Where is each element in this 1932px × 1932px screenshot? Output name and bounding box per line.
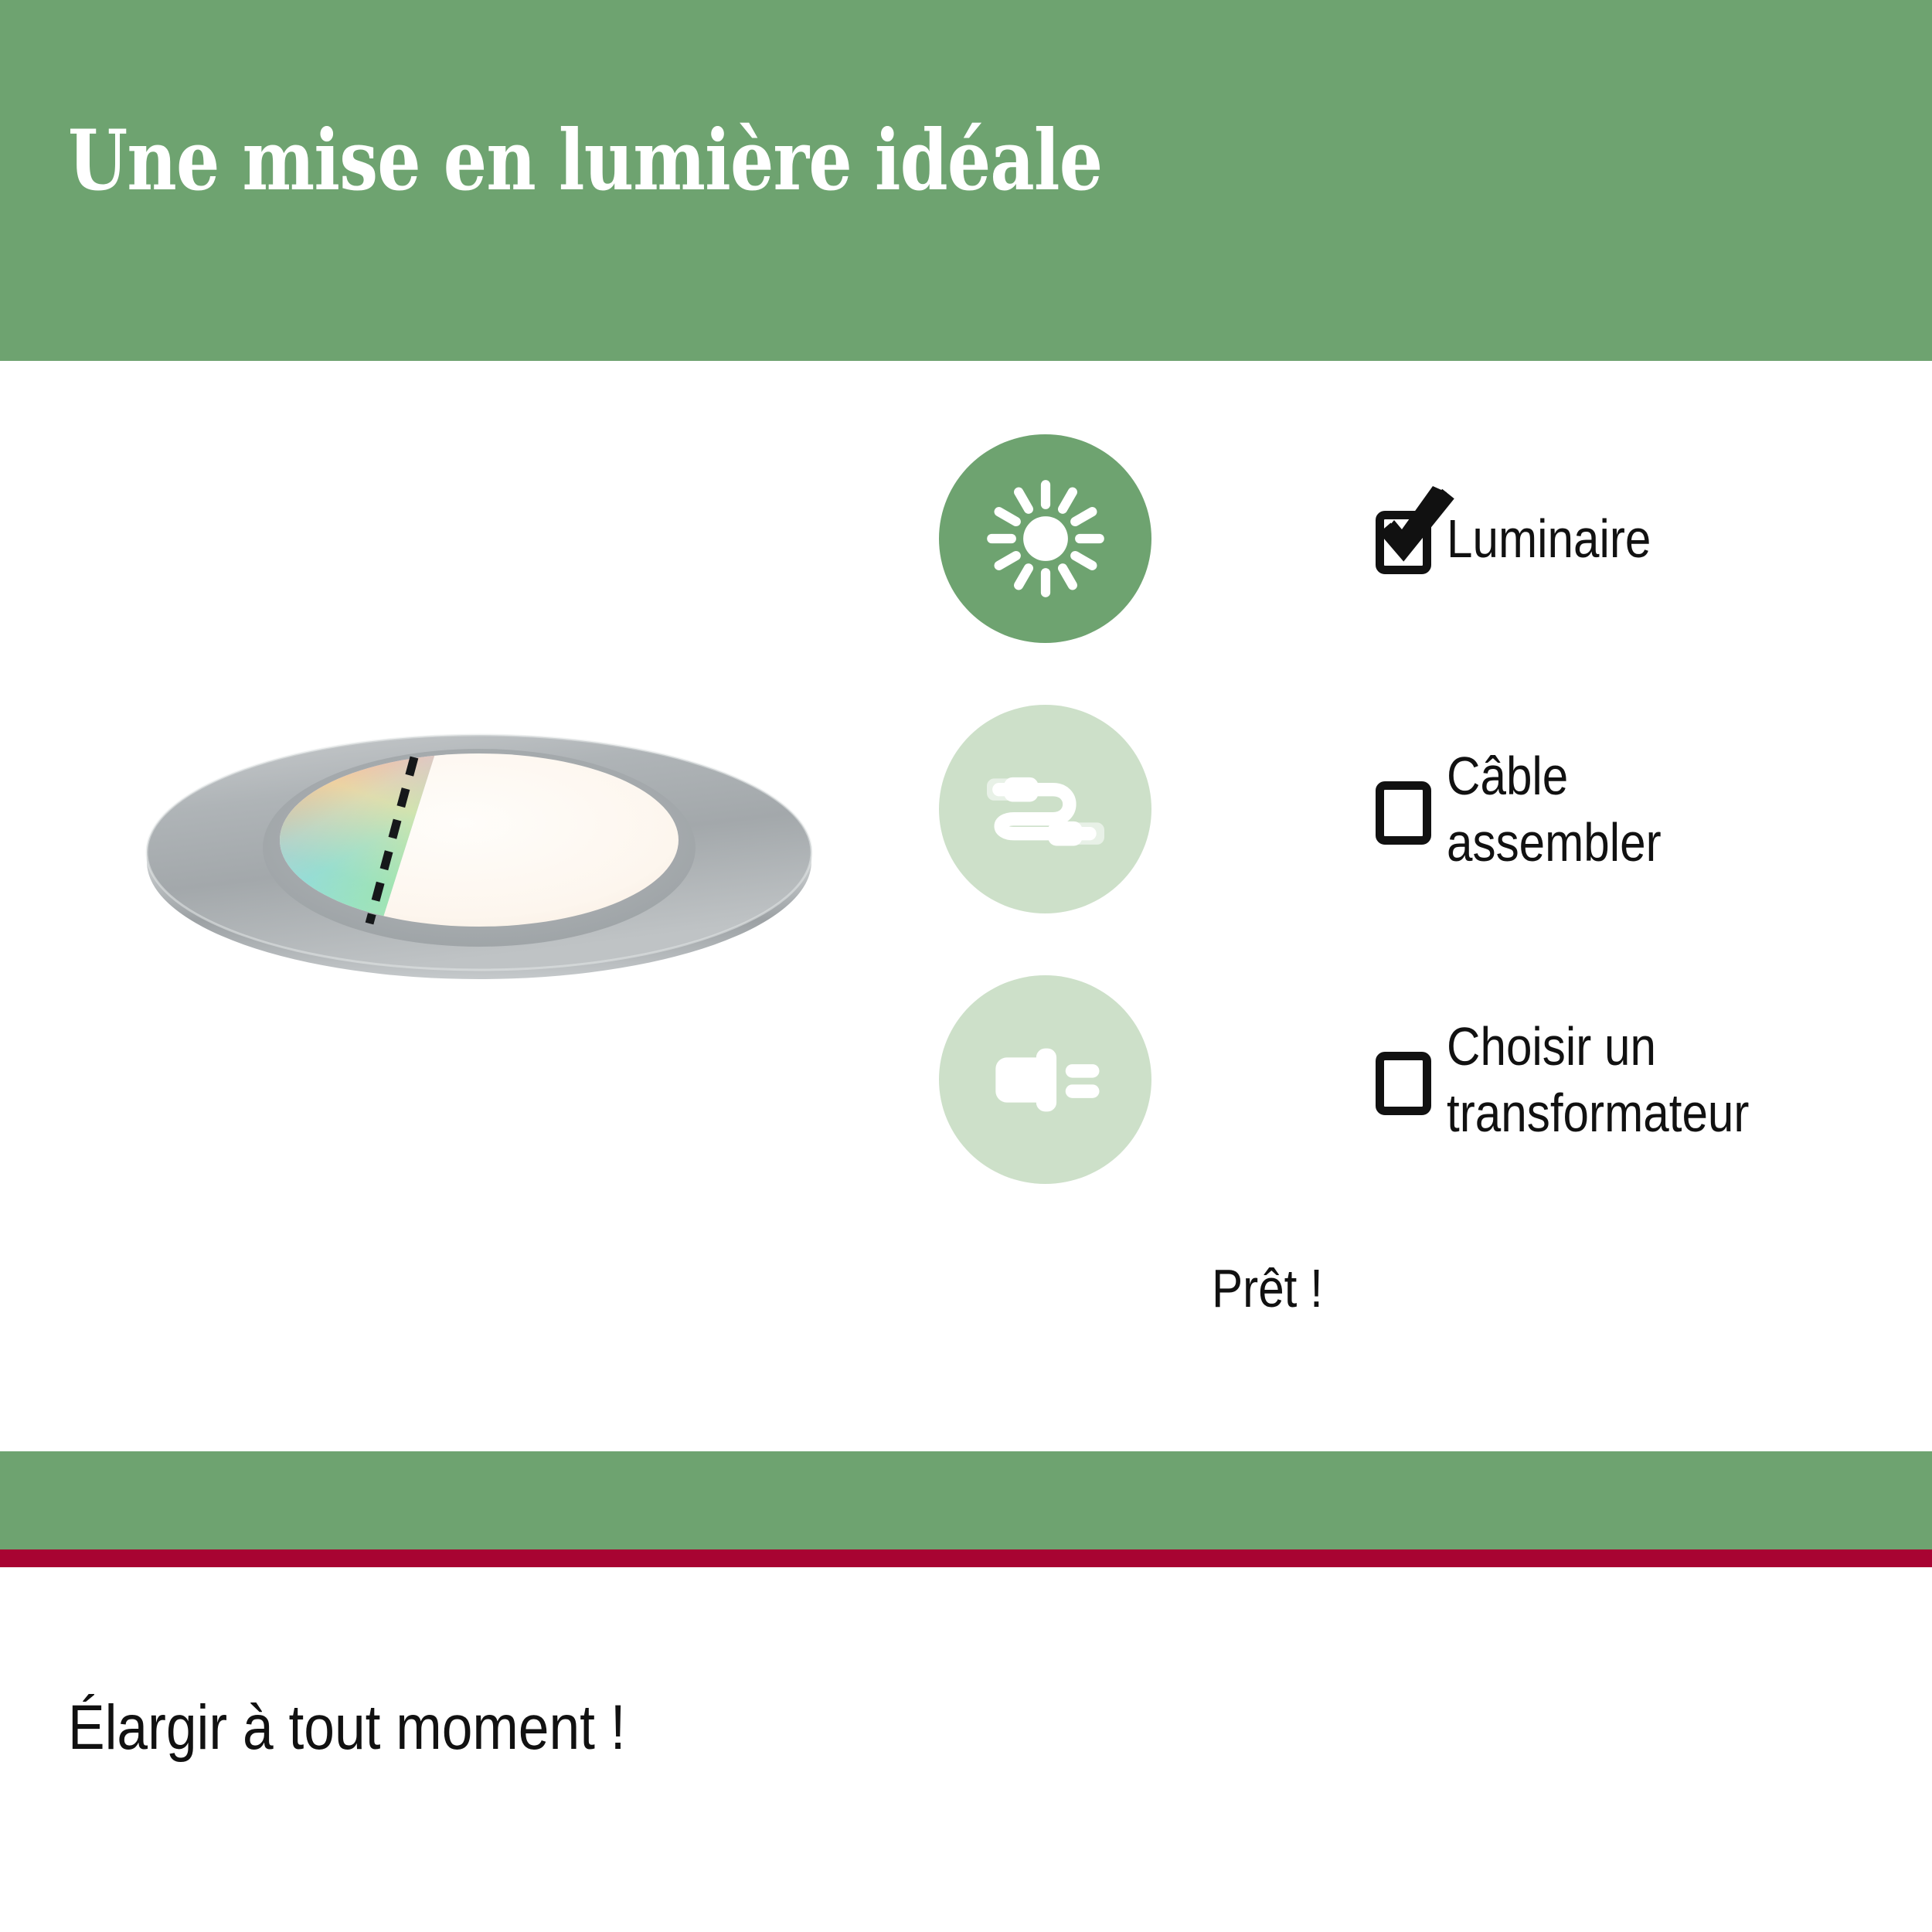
- plug-icon-circle: [939, 975, 1151, 1184]
- main-content: Luminaire Câble assembler: [0, 361, 1932, 1451]
- checklist-label-cable: Câble assembler: [1447, 743, 1841, 876]
- checklist-label-luminaire: Luminaire: [1447, 505, 1841, 572]
- checkbox-box: [1376, 781, 1431, 845]
- checkbox-transformer[interactable]: [1376, 1052, 1423, 1107]
- checklist-item-luminaire[interactable]: Luminaire: [939, 434, 1905, 643]
- footer-green-band: [0, 1451, 1932, 1549]
- sun-icon-circle: [939, 434, 1151, 643]
- checklist-item-transformer[interactable]: Choisir un transformateur: [939, 975, 1905, 1184]
- checklist-item-cable[interactable]: Câble assembler: [939, 705, 1905, 913]
- ready-text: Prêt !: [1212, 1257, 1323, 1319]
- footer-tagline: Élargir à tout moment !: [68, 1691, 626, 1765]
- sun-icon: [980, 473, 1111, 604]
- checkmark-icon: [1372, 485, 1458, 570]
- checkbox-cable[interactable]: [1376, 781, 1423, 837]
- checklist: Luminaire Câble assembler: [939, 434, 1905, 1246]
- cable-icon-circle: [939, 705, 1151, 913]
- product-image: [139, 724, 819, 979]
- cable-icon: [972, 736, 1119, 883]
- plug-icon: [978, 1012, 1113, 1148]
- page-title: Une mise en lumière idéale: [68, 114, 1102, 207]
- checkbox-box: [1376, 1052, 1431, 1115]
- header-band: Une mise en lumière idéale: [0, 0, 1932, 361]
- checklist-label-transformer: Choisir un transformateur: [1447, 1013, 1841, 1146]
- footer-red-accent-band: [0, 1549, 1932, 1567]
- footer-area: Élargir à tout moment !: [0, 1567, 1932, 1932]
- checkbox-luminaire[interactable]: [1376, 511, 1423, 566]
